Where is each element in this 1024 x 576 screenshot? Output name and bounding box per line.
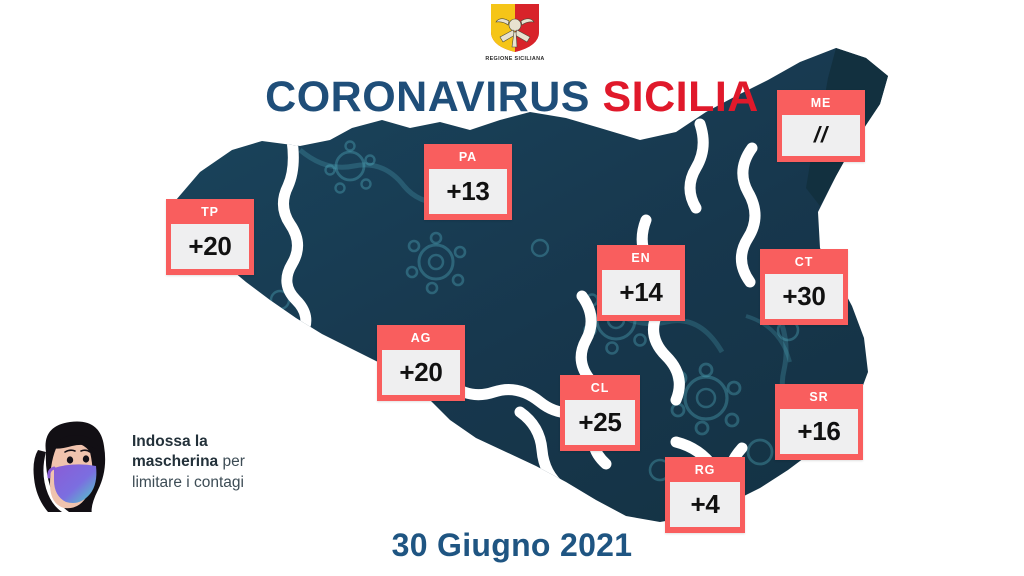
province-badge-tp: TP+20: [166, 199, 254, 275]
province-code: ME: [782, 94, 860, 115]
mask-notice-text: Indossa la mascherina per limitare i con…: [132, 432, 302, 493]
province-value: +14: [602, 270, 680, 315]
person-wearing-mask-icon: [26, 418, 118, 512]
province-value: +20: [171, 224, 249, 269]
province-badge-ct: CT+30: [760, 249, 848, 325]
province-code: TP: [171, 203, 249, 224]
province-badge-rg: RG+4: [665, 457, 745, 533]
province-code: CL: [565, 379, 635, 400]
mask-line-1: Indossa la: [132, 433, 208, 450]
title-primary: CORONAVIRUS: [265, 73, 590, 121]
province-badge-cl: CL+25: [560, 375, 640, 451]
province-code: AG: [382, 329, 460, 350]
province-value: //: [782, 115, 860, 156]
province-badge-en: EN+14: [597, 245, 685, 321]
emblem-label: REGIONE SICILIANA: [484, 56, 546, 62]
province-badge-me: ME//: [777, 90, 865, 162]
province-badge-sr: SR+16: [775, 384, 863, 460]
province-value: +30: [765, 274, 843, 319]
page-title: CORONAVIRUS SICILIA: [0, 76, 1024, 119]
mask-line-2-bold: mascherina: [132, 453, 218, 470]
mask-notice: Indossa la mascherina per limitare i con…: [26, 418, 286, 514]
province-code: PA: [429, 148, 507, 169]
report-date: 30 Giugno 2021: [0, 527, 1024, 564]
infographic-canvas: REGIONE SICILIANA CORONAVIRUS SICILIA TP…: [0, 0, 1024, 576]
regione-siciliana-emblem: REGIONE SICILIANA: [484, 2, 546, 62]
province-value: +16: [780, 409, 858, 454]
province-code: EN: [602, 249, 680, 270]
province-badge-pa: PA+13: [424, 144, 512, 220]
title-secondary: SICILIA: [602, 73, 758, 121]
province-value: +20: [382, 350, 460, 395]
province-code: SR: [780, 388, 858, 409]
province-badge-ag: AG+20: [377, 325, 465, 401]
mask-line-2-light: per: [218, 453, 245, 470]
province-value: +25: [565, 400, 635, 445]
province-value: +4: [670, 482, 740, 527]
trinacria-shield-icon: [487, 2, 543, 54]
province-code: RG: [670, 461, 740, 482]
mask-line-3: limitare i contagi: [132, 474, 244, 491]
province-code: CT: [765, 253, 843, 274]
province-value: +13: [429, 169, 507, 214]
